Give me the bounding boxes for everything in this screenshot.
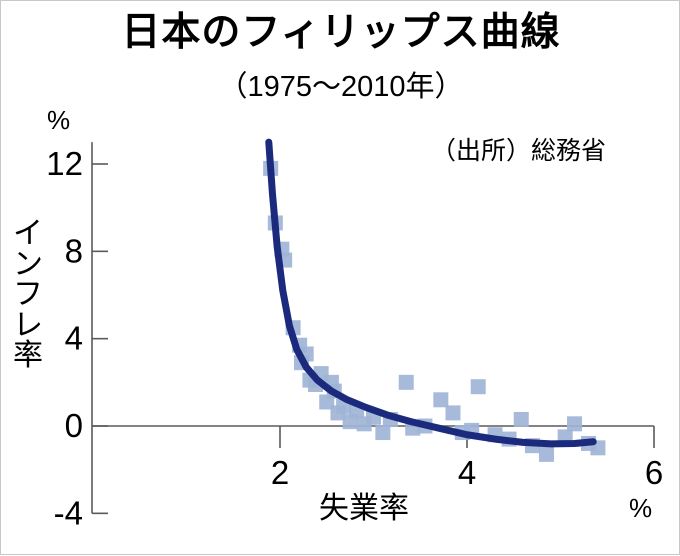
y-axis-tick-label: 12 (46, 145, 83, 182)
data-point-marker (375, 425, 390, 440)
data-point-marker (433, 392, 448, 407)
fitted-curve (269, 142, 593, 444)
x-axis-tick-label: 2 (271, 454, 289, 491)
x-axis-tick-label: 6 (645, 454, 663, 491)
data-point-marker (514, 412, 529, 427)
data-point-marker (567, 416, 582, 431)
phillips-curve-plot: 12840-4246 (1, 1, 680, 556)
y-axis-tick-label: 4 (65, 320, 83, 357)
chart-page: 日本のフィリップス曲線 （1975〜2010年） （出所）総務省 % % インフ… (0, 0, 680, 555)
scatter-series (263, 161, 605, 462)
y-axis-tick-label: 8 (65, 232, 83, 269)
y-axis-tick-label: 0 (65, 407, 83, 444)
data-point-marker (471, 379, 486, 394)
x-axis-tick-label: 4 (458, 454, 476, 491)
data-point-marker (445, 405, 460, 420)
data-point-marker (539, 447, 554, 462)
data-point-marker (399, 375, 414, 390)
y-axis-tick-label: -4 (54, 494, 83, 531)
